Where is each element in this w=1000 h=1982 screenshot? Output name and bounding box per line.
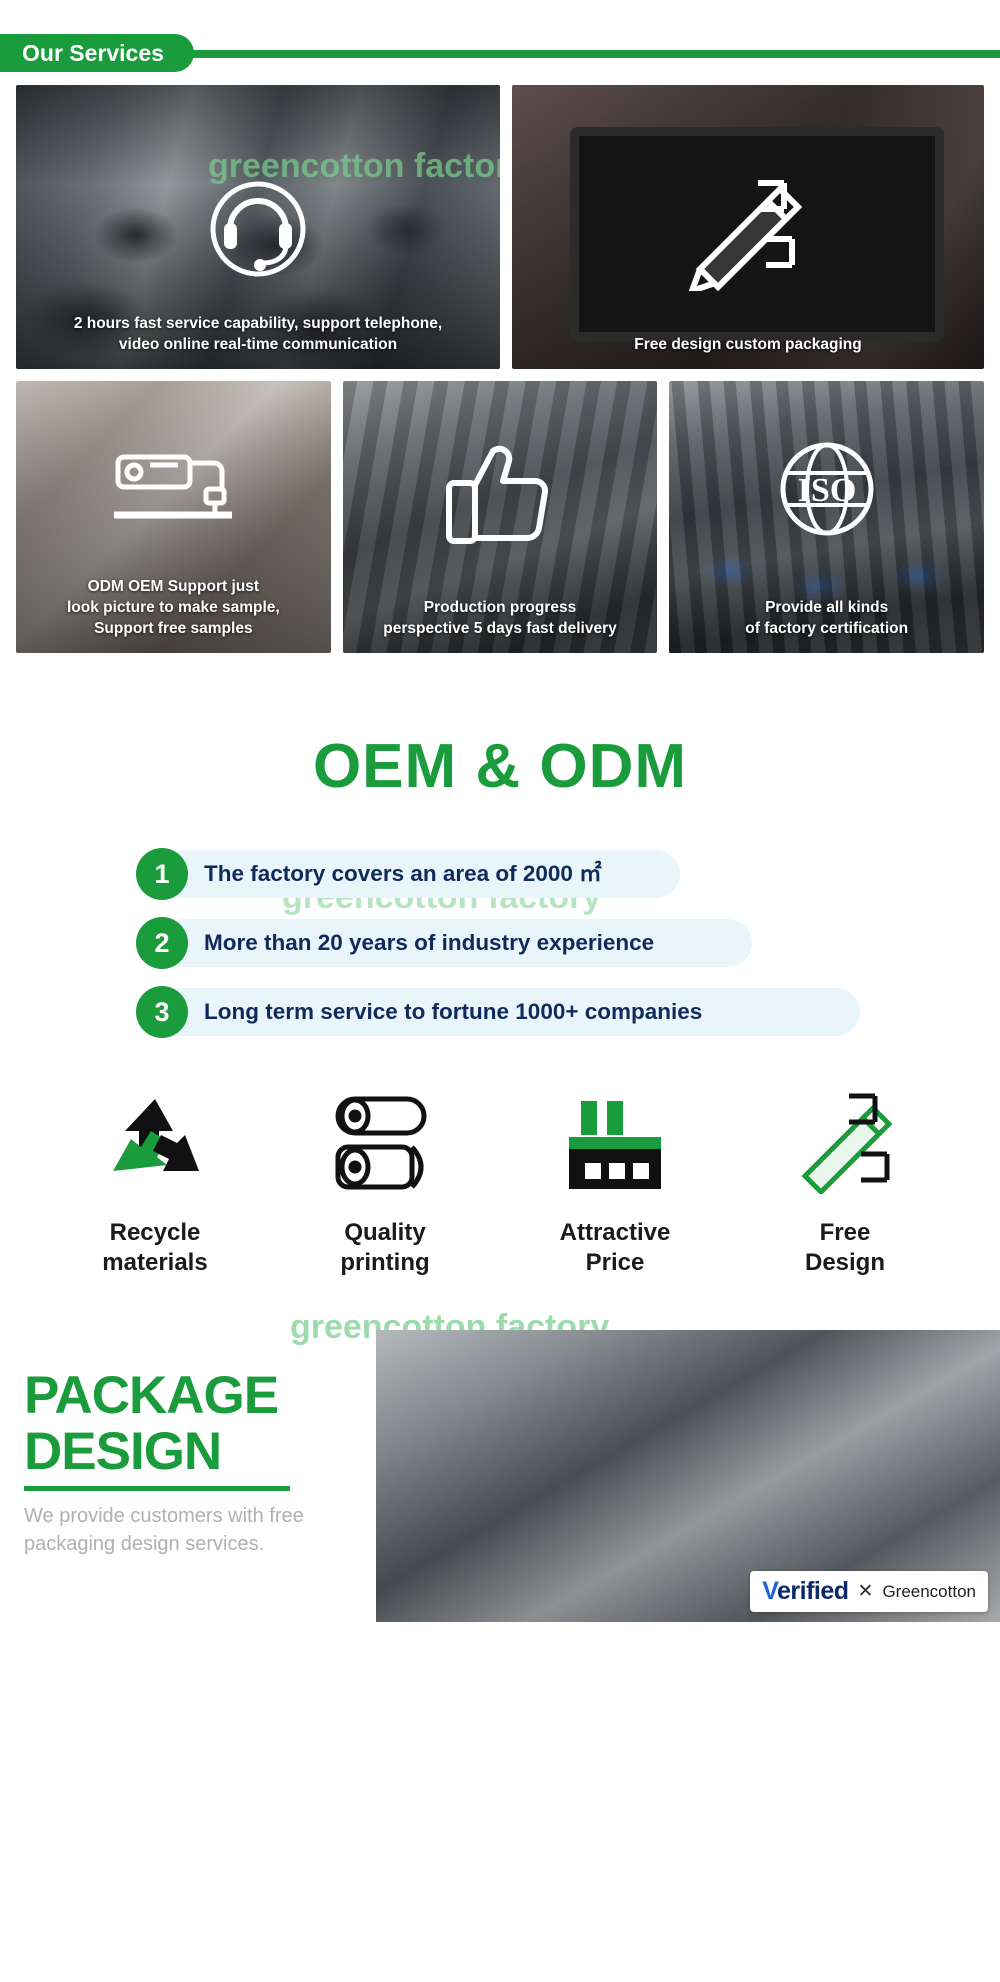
feature-label: Recycle materials [40,1218,270,1278]
verified-rest: erified [777,1577,849,1605]
feature-free-design: Free Design [730,1088,960,1278]
service-card-fast-service[interactable]: greencotton factory 2 hours fast service… [16,85,500,369]
feature-label-line1: Free [730,1218,960,1248]
service-card-certification[interactable]: ISO Provide all kinds of factory certifi… [669,381,984,653]
package-subtitle: We provide customers with free packaging… [24,1502,384,1558]
feature-attractive-price: Attractive Price [500,1088,730,1278]
feature-label: Quality printing [270,1218,500,1278]
headset-icon [200,171,316,292]
caption-line-2: look picture to make sample, [28,597,319,618]
oem-point-row: 3 Long term service to fortune 1000+ com… [0,986,1000,1038]
header-tab-label: Our Services [0,34,194,72]
point-text: The factory covers an area of 2000 ㎡ [204,848,602,900]
svg-text:ISO: ISO [797,472,856,509]
point-number: 2 [136,917,188,969]
service-card-odm-oem[interactable]: ODM OEM Support just look picture to mak… [16,381,331,653]
caption-line-1: 2 hours fast service capability, support… [28,313,488,334]
feature-quality-printing: Quality printing [270,1088,500,1278]
brand-name: Greencotton [882,1582,976,1602]
feature-label-line1: Attractive [500,1218,730,1248]
point-text: More than 20 years of industry experienc… [204,917,654,969]
verified-prefix: V [762,1577,777,1605]
factory-icon [500,1088,730,1198]
feature-label-line2: Price [500,1248,730,1278]
oem-point-row: 2 More than 20 years of industry experie… [0,917,1000,969]
feature-recycle: Recycle materials [40,1088,270,1278]
services-header: Our Services [0,34,1000,72]
features-row: Recycle materials Quality printing [0,1088,1000,1278]
pencil-design-icon [682,173,814,296]
package-text-block: PACKAGE DESIGN We provide customers with… [24,1368,384,1558]
thumbs-up-icon [441,439,559,552]
package-design-photo: Verified ✕ Greencotton [376,1330,1000,1622]
service-caption: Free design custom packaging [512,334,984,355]
service-card-free-design[interactable]: Free design custom packaging [512,85,984,369]
feature-label-line2: printing [270,1248,500,1278]
feature-label-line1: Recycle [40,1218,270,1248]
recycle-icon [40,1088,270,1198]
feature-label-line2: Design [730,1248,960,1278]
verified-text: Verified [762,1577,848,1606]
verified-badge: Verified ✕ Greencotton [750,1571,988,1612]
iso-globe-icon: ISO [771,433,883,550]
caption-line-2: perspective 5 days fast delivery [355,618,646,639]
caption-line-2: video online real-time communication [28,334,488,355]
service-caption: Provide all kinds of factory certificati… [669,597,984,639]
close-icon: ✕ [858,1580,874,1603]
point-number: 1 [136,848,188,900]
package-design-section: greencotton factory PACKAGE DESIGN We pr… [0,1330,1000,1630]
point-number: 3 [136,986,188,1038]
oem-point-row: 1 The factory covers an area of 2000 ㎡ [0,848,1000,900]
service-caption: Production progress perspective 5 days f… [343,597,658,639]
feature-label: Attractive Price [500,1218,730,1278]
package-subtitle-line2: packaging design services. [24,1530,384,1558]
feature-label-line1: Quality [270,1218,500,1248]
caption-line-2: of factory certification [681,618,972,639]
feature-label: Free Design [730,1218,960,1278]
package-subtitle-line1: We provide customers with free [24,1502,384,1530]
point-text: Long term service to fortune 1000+ compa… [204,986,702,1038]
service-caption: 2 hours fast service capability, support… [16,313,500,355]
oem-points-list: greencotton factory 1 The factory covers… [0,848,1000,1038]
paper-roll-icon [270,1088,500,1198]
caption-line-1: Free design custom packaging [524,334,972,355]
service-card-production-progress[interactable]: Production progress perspective 5 days f… [343,381,658,653]
package-underline [24,1486,290,1491]
caption-line-1: ODM OEM Support just [28,576,319,597]
sewing-machine-icon [110,443,236,540]
caption-line-1: Production progress [355,597,646,618]
caption-line-1: Provide all kinds [681,597,972,618]
caption-line-3: Support free samples [28,618,319,639]
oem-odm-title: OEM & ODM [0,731,1000,802]
pencil-ruler-icon [730,1088,960,1198]
feature-label-line2: materials [40,1248,270,1278]
service-caption: ODM OEM Support just look picture to mak… [16,576,331,639]
services-grid-top: greencotton factory 2 hours fast service… [0,72,1000,369]
package-title-line2: DESIGN [24,1424,384,1480]
services-grid-bottom: ODM OEM Support just look picture to mak… [0,369,1000,653]
package-title-line1: PACKAGE [24,1368,384,1424]
